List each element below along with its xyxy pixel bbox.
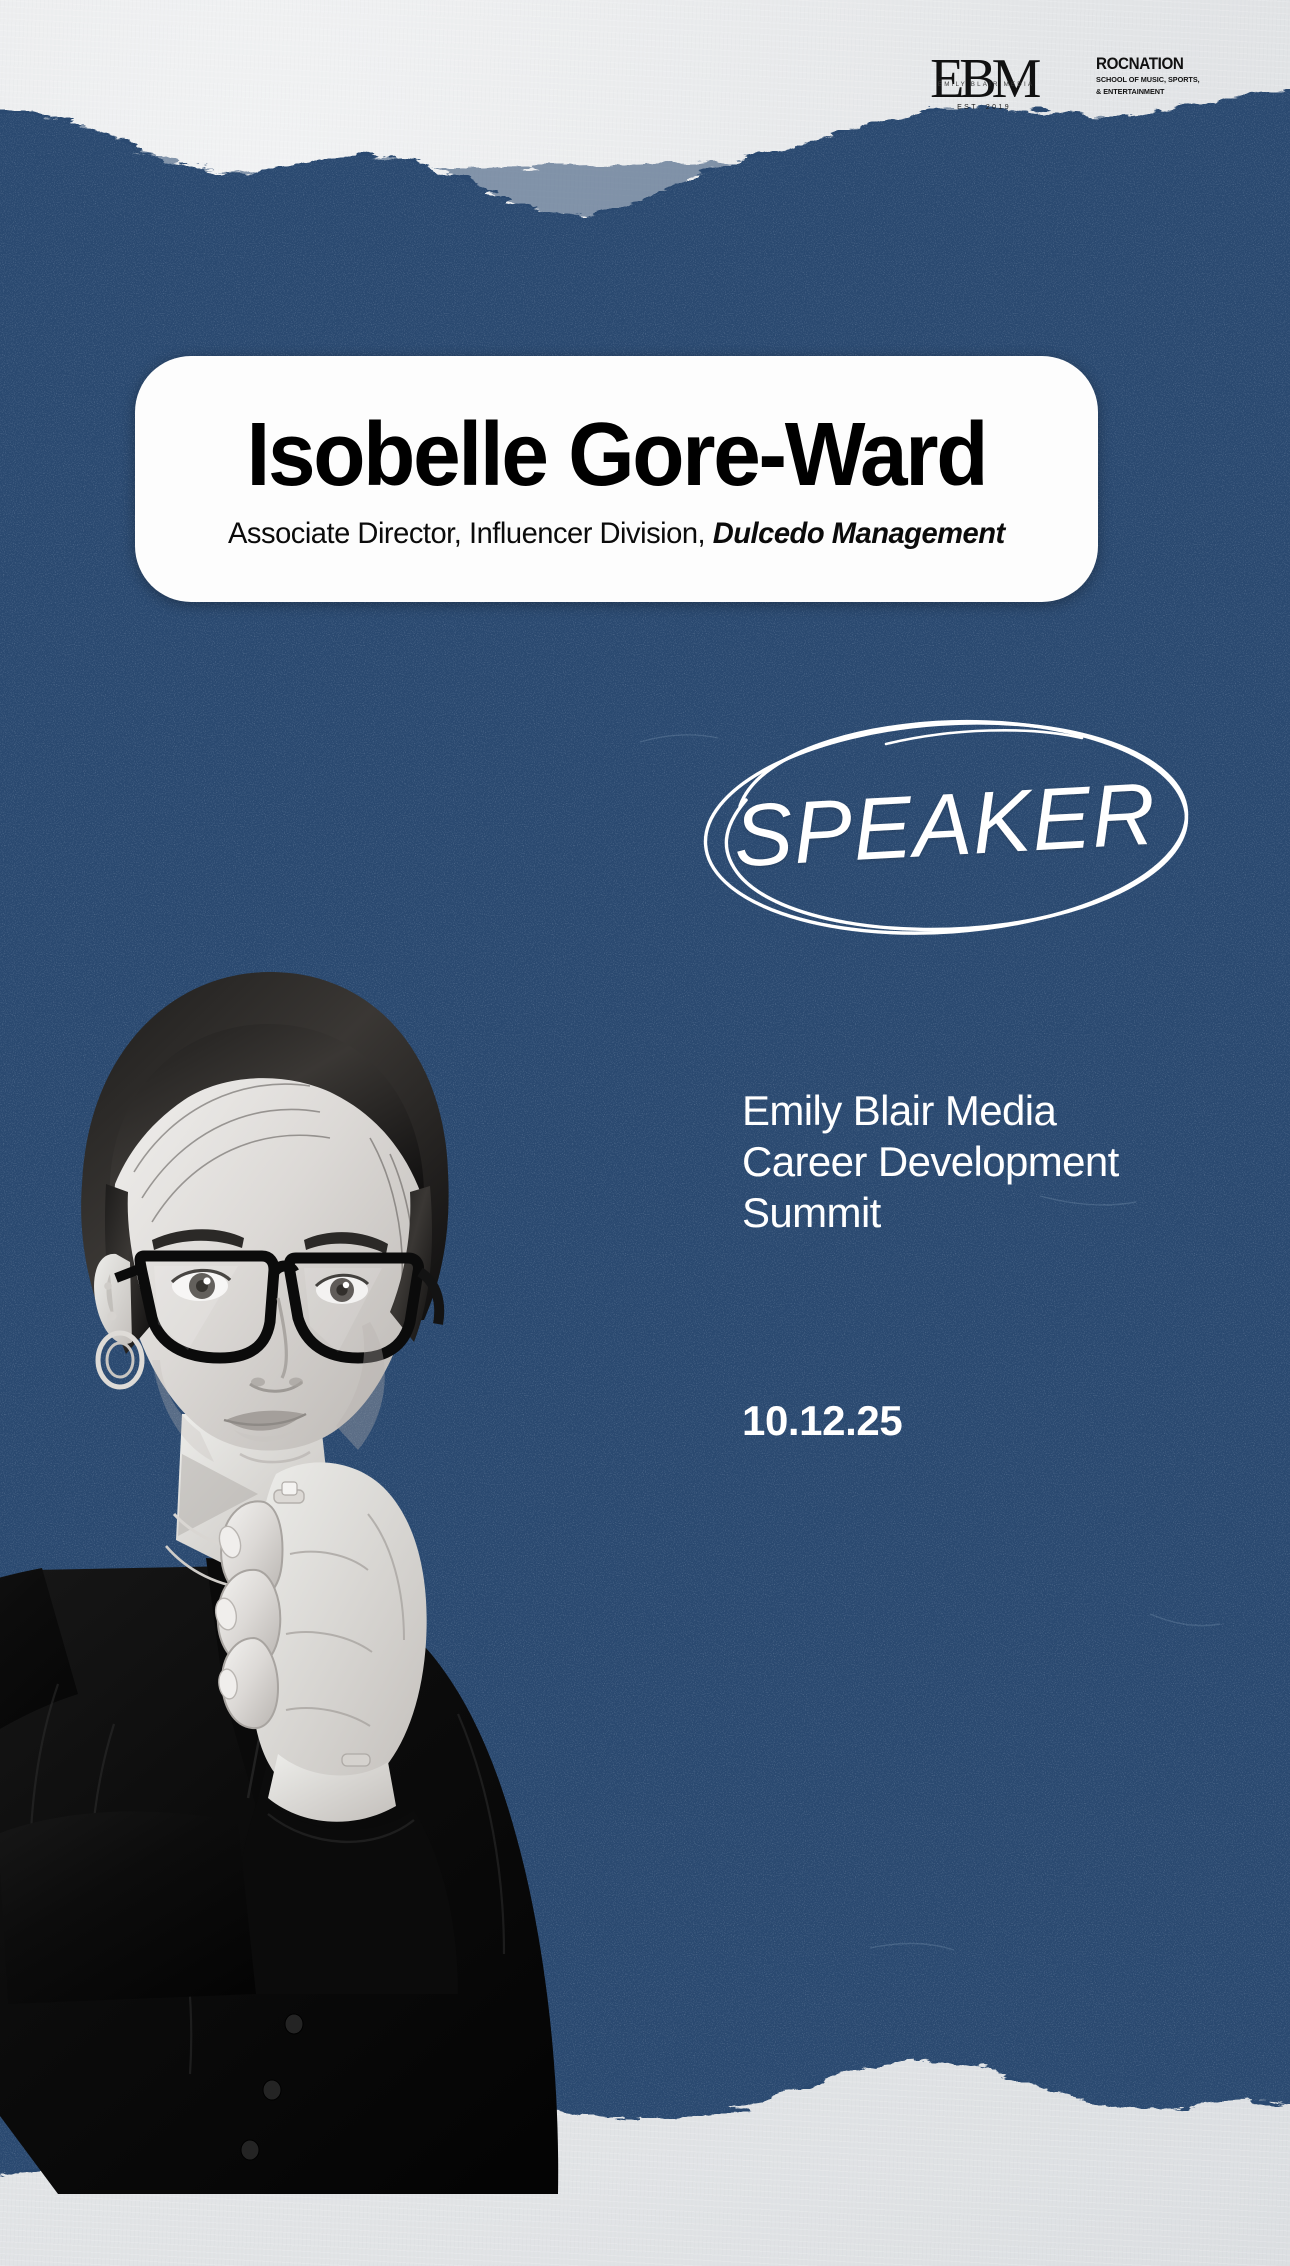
rocnation-tagline-line-2: & ENTERTAINMENT [1096, 87, 1200, 97]
rocnation-logo: ROCNATION SCHOOL OF MUSIC, SPORTS, & ENT… [1096, 52, 1204, 96]
ebm-monogram-icon: EBM [930, 52, 1042, 106]
speaker-role-prefix: Associate Director, Influencer Division, [228, 517, 713, 550]
ebm-established: EST. 2019 [930, 104, 1038, 111]
event-date: 10.12.25 [742, 1397, 902, 1445]
speaker-role: Associate Director, Influencer Division,… [228, 517, 1005, 551]
event-title-line-2: Career Development [742, 1136, 1119, 1187]
speaker-badge-label: SPEAKER [684, 686, 1207, 963]
rocnation-tagline-line-1: SCHOOL OF MUSIC, SPORTS, [1096, 75, 1200, 85]
speaker-badge: SPEAKER [690, 700, 1200, 950]
header-logos: EBM EMILY BLAIR MEDIA EST. 2019 ROCNATIO… [930, 52, 1204, 114]
speaker-name-card: Isobelle Gore-Ward Associate Director, I… [135, 356, 1098, 602]
event-title-line-3: Summit [742, 1187, 1119, 1238]
event-title-line-1: Emily Blair Media [742, 1085, 1119, 1136]
ebm-wordmark: EMILY BLAIR MEDIA [932, 81, 1040, 88]
ebm-logo: EBM EMILY BLAIR MEDIA EST. 2019 [930, 52, 1042, 114]
speaker-portrait [0, 854, 698, 2194]
event-title: Emily Blair Media Career Development Sum… [742, 1085, 1119, 1238]
speaker-company: Dulcedo Management [713, 517, 1005, 550]
speaker-announcement-poster: EBM EMILY BLAIR MEDIA EST. 2019 ROCNATIO… [0, 0, 1290, 2266]
rocnation-wordmark-icon: ROCNATION [1096, 56, 1195, 73]
speaker-name: Isobelle Gore-Ward [247, 407, 987, 503]
